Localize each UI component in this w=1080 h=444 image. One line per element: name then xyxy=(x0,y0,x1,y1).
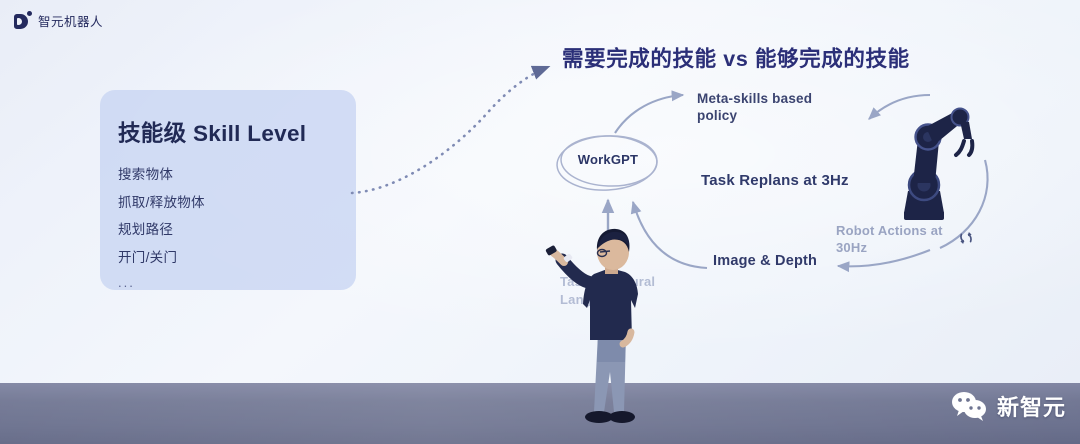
dotted-connector-arrow xyxy=(352,67,548,193)
watermark-text: 新智元 xyxy=(997,390,1066,422)
brand-name: 智元机器人 xyxy=(38,11,103,30)
label-image-depth: Image & Depth xyxy=(713,252,817,271)
aidea-d-logo-icon xyxy=(14,12,31,29)
label-meta-skills-policy: Meta-skills based policy xyxy=(697,90,817,124)
wechat-icon xyxy=(950,390,990,422)
watermark: 新智元 xyxy=(950,390,1066,422)
node-workgpt-label: WorkGPT xyxy=(575,152,641,167)
label-task-replans: Task Replans at 3Hz xyxy=(701,172,849,189)
presenter-person xyxy=(540,222,660,438)
robot-arm-icon xyxy=(890,105,985,230)
brand-logo: 智元机器人 xyxy=(14,11,103,30)
arrow-workgpt-to-meta xyxy=(615,95,683,133)
presentation-photo: 智元机器人 技能级 Skill Level 搜索物体 抓取/释放物体 规划路径 … xyxy=(0,0,1080,444)
